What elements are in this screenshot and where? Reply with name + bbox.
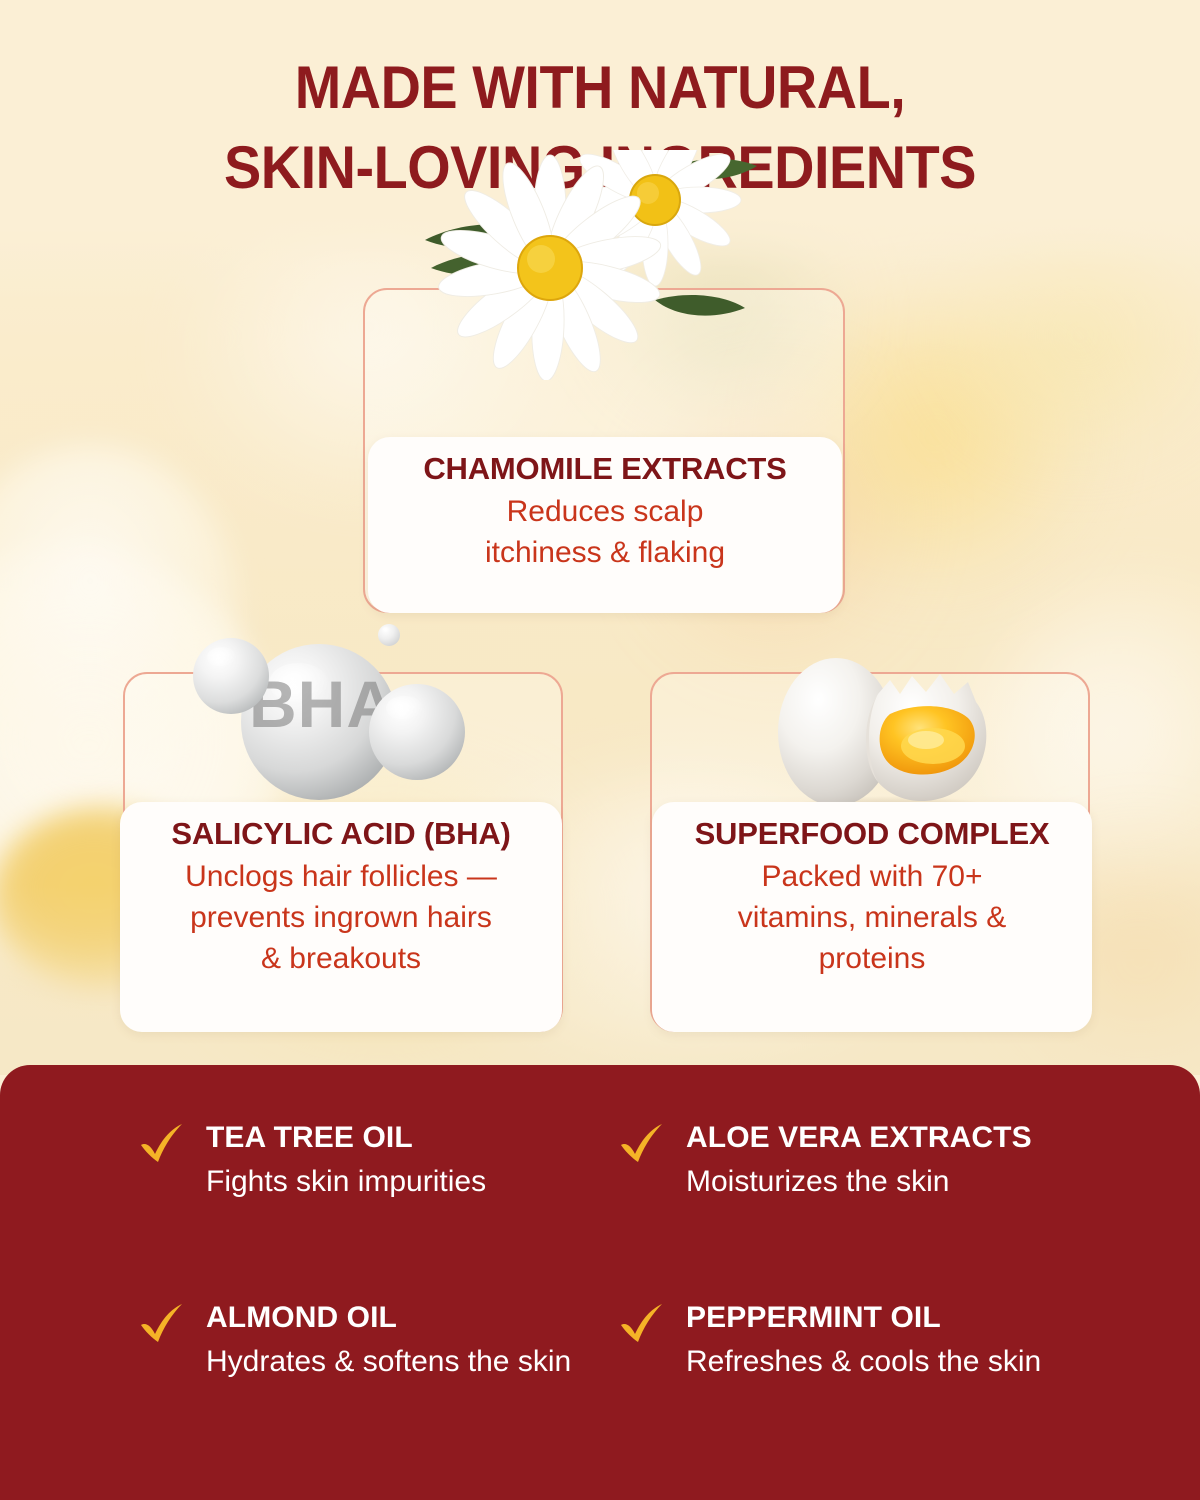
infographic-page: MADE WITH NATURAL, SKIN-LOVING INGREDIEN…: [0, 0, 1200, 1500]
checkmark-icon: [138, 1302, 184, 1348]
checkmark-icon: [618, 1122, 664, 1168]
benefit-description: Moisturizes the skin: [686, 1162, 1086, 1202]
bha-sphere-small-left: [193, 638, 269, 714]
chamomile-flowers-icon: [365, 290, 843, 460]
bha-sphere-small-right: [369, 684, 465, 780]
ingredient-description: Reduces scalp itchiness & flaking: [378, 491, 832, 573]
benefit-title: ALMOND OIL: [206, 1300, 397, 1336]
bha-sphere-dot: [378, 624, 400, 646]
ingredient-description: Unclogs hair follicles — prevents ingrow…: [130, 856, 552, 979]
ingredient-title: SUPERFOOD COMPLEX: [662, 816, 1082, 853]
benefit-description: Refreshes & cools the skin: [686, 1342, 1086, 1382]
ingredient-panel-salicylic-acid: SALICYLIC ACID (BHA) Unclogs hair follic…: [120, 802, 562, 1032]
ingredient-description: Packed with 70+ vitamins, minerals & pro…: [662, 856, 1082, 979]
ingredient-title: SALICYLIC ACID (BHA): [130, 816, 552, 853]
benefit-description: Fights skin impurities: [206, 1162, 606, 1202]
ingredient-panel-superfood: SUPERFOOD COMPLEX Packed with 70+ vitami…: [652, 802, 1092, 1032]
benefit-description: Hydrates & softens the skin: [206, 1342, 606, 1382]
benefit-title: TEA TREE OIL: [206, 1120, 413, 1156]
benefit-title: PEPPERMINT OIL: [686, 1300, 941, 1336]
ingredient-title: CHAMOMILE EXTRACTS: [378, 451, 832, 488]
page-title: MADE WITH NATURAL, SKIN-LOVING INGREDIEN…: [42, 48, 1158, 208]
checkmark-icon: [138, 1122, 184, 1168]
benefit-title: ALOE VERA EXTRACTS: [686, 1120, 1032, 1156]
checkmark-icon: [618, 1302, 664, 1348]
ingredient-panel-chamomile: CHAMOMILE EXTRACTS Reduces scalp itchine…: [368, 437, 842, 613]
